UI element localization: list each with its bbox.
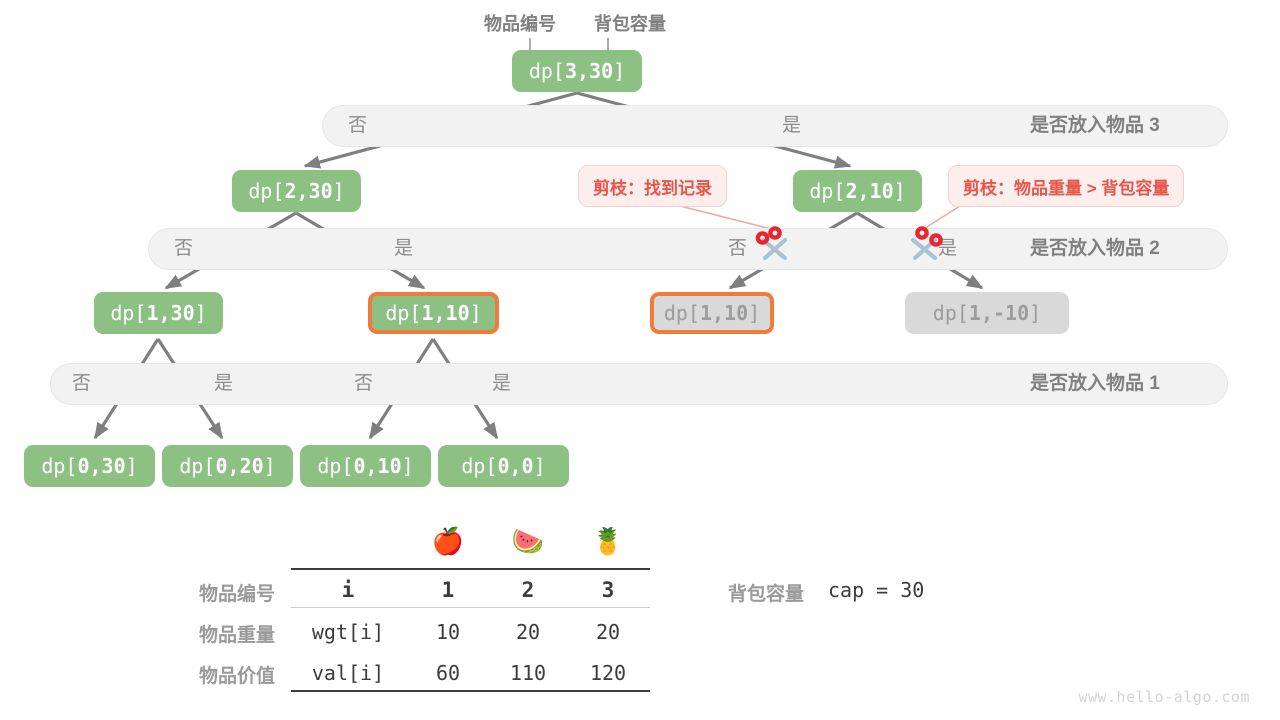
row-header-item-value: 物品价值 [120, 661, 275, 688]
cell-key-i: i [298, 578, 398, 602]
cell-key-wgt: wgt[i] [298, 620, 398, 644]
cell-value-3: 120 [568, 661, 648, 685]
watermelon-icon: 🍉 [508, 528, 548, 554]
items-table: 🍎 🍉 🍍 物品编号 物品重量 物品价值 i wgt[i] val[i] 1 2… [0, 0, 1280, 720]
watermark: www.hello-algo.com [1078, 688, 1250, 706]
cell-weight-2: 20 [488, 620, 568, 644]
row-header-item-weight: 物品重量 [120, 620, 275, 647]
table-top-rule [291, 568, 650, 570]
cell-index-1: 1 [408, 578, 488, 602]
row-header-item-index: 物品编号 [120, 579, 275, 606]
capacity-note-value: cap = 30 [828, 578, 924, 602]
diagram-canvas: 物品编号 背包容量 否 是 是否放入物品 3 否 是 否 是 是否放入物品 2 … [0, 0, 1280, 720]
pineapple-icon: 🍍 [588, 528, 628, 554]
cell-value-2: 110 [488, 661, 568, 685]
cell-key-val: val[i] [298, 661, 398, 685]
table-bottom-rule [291, 690, 650, 692]
capacity-note-label: 背包容量 [728, 579, 804, 606]
cell-index-2: 2 [488, 578, 568, 602]
table-mid-rule [291, 607, 650, 608]
cell-index-3: 3 [568, 578, 648, 602]
cell-value-1: 60 [408, 661, 488, 685]
cell-weight-1: 10 [408, 620, 488, 644]
apple-icon: 🍎 [428, 528, 468, 554]
cell-weight-3: 20 [568, 620, 648, 644]
